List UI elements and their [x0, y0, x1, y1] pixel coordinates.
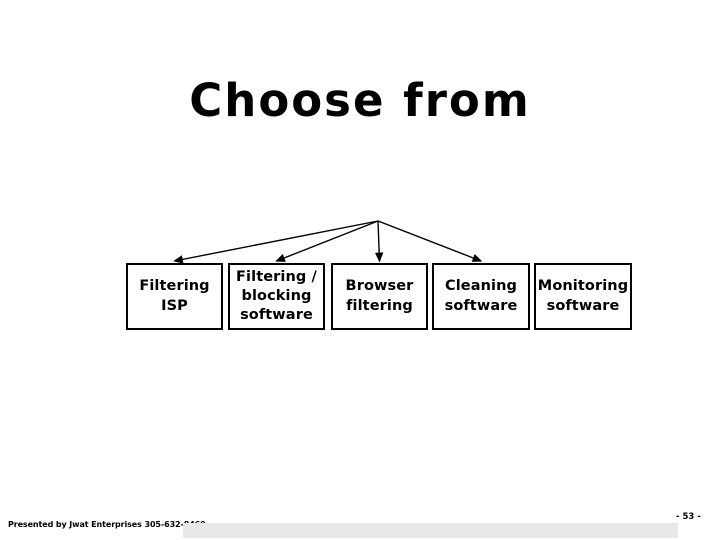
- arrow-to-node-filtering-blocking-software: [277, 221, 379, 261]
- footer-bar: [183, 523, 678, 538]
- node-filtering-isp[interactable]: Filtering ISP: [126, 263, 223, 330]
- slide-canvas: Choose from Filtering ISP Filtering / bl…: [0, 0, 720, 540]
- page-marker: - 53 -: [676, 512, 701, 522]
- arrow-group: [175, 221, 482, 261]
- node-browser-filtering[interactable]: Browser filtering: [331, 263, 428, 330]
- node-browser-filtering-label: Browser filtering: [343, 277, 417, 315]
- node-cleaning-software[interactable]: Cleaning software: [432, 263, 530, 330]
- node-filtering-blocking-software-label: Filtering / blocking software: [233, 268, 320, 325]
- arrow-to-node-browser-filtering: [378, 221, 380, 261]
- node-monitoring-software[interactable]: Monitoring software: [534, 263, 632, 330]
- arrow-to-node-filtering-isp: [175, 221, 379, 261]
- node-cleaning-software-label: Cleaning software: [442, 277, 521, 315]
- node-monitoring-software-label: Monitoring software: [535, 277, 631, 315]
- page-title: Choose from: [0, 78, 720, 123]
- arrow-to-node-cleaning-software: [378, 221, 481, 261]
- node-filtering-isp-label: Filtering ISP: [136, 277, 212, 315]
- node-filtering-blocking-software[interactable]: Filtering / blocking software: [228, 263, 325, 330]
- footer-credit: Presented by Jwat Enterprises 305-632-84…: [8, 520, 206, 529]
